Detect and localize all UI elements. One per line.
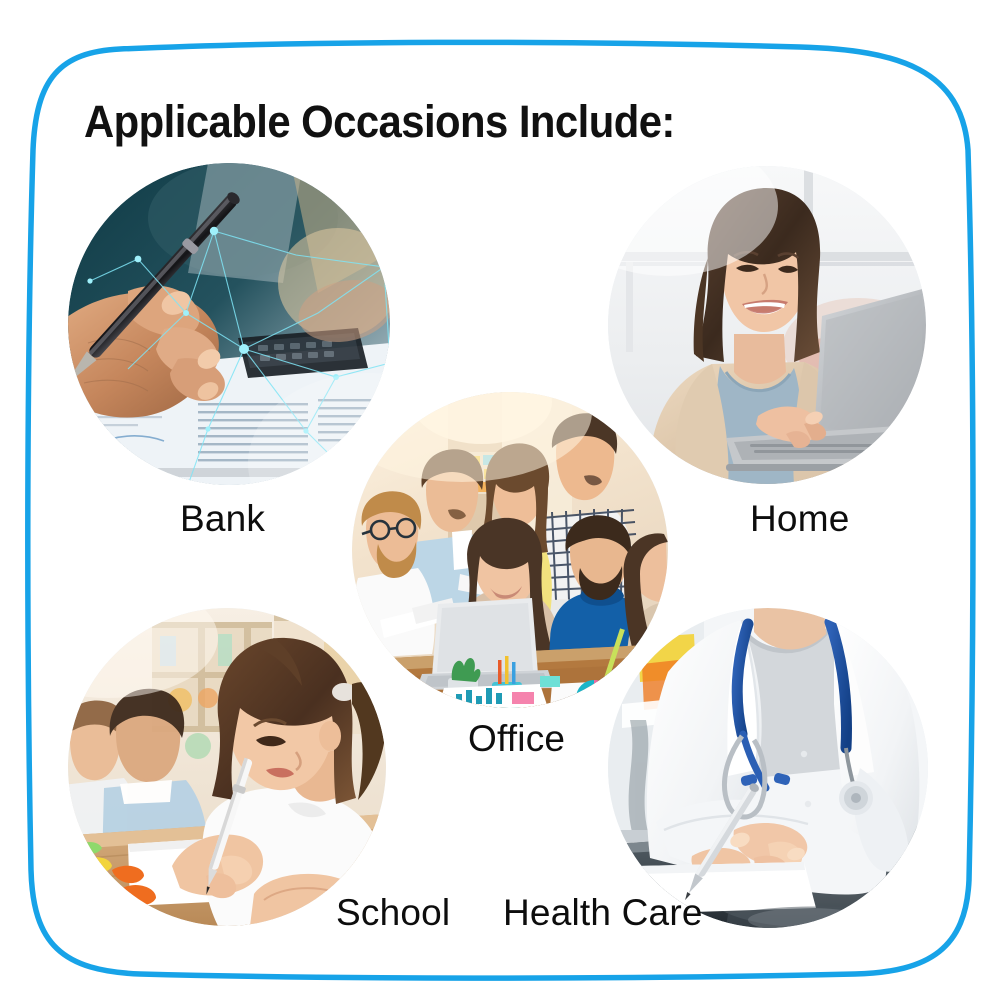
caption-school: School — [336, 892, 450, 934]
school-photo — [68, 608, 386, 926]
home-photo — [608, 166, 926, 484]
bank-photo — [68, 163, 390, 485]
caption-office: Office — [468, 718, 565, 760]
health-photo — [608, 608, 928, 928]
page-title: Applicable Occasions Include: — [84, 96, 675, 148]
caption-bank: Bank — [180, 498, 265, 540]
office-photo — [352, 392, 668, 708]
caption-health: Health Care — [503, 892, 703, 934]
caption-home: Home — [750, 498, 850, 540]
